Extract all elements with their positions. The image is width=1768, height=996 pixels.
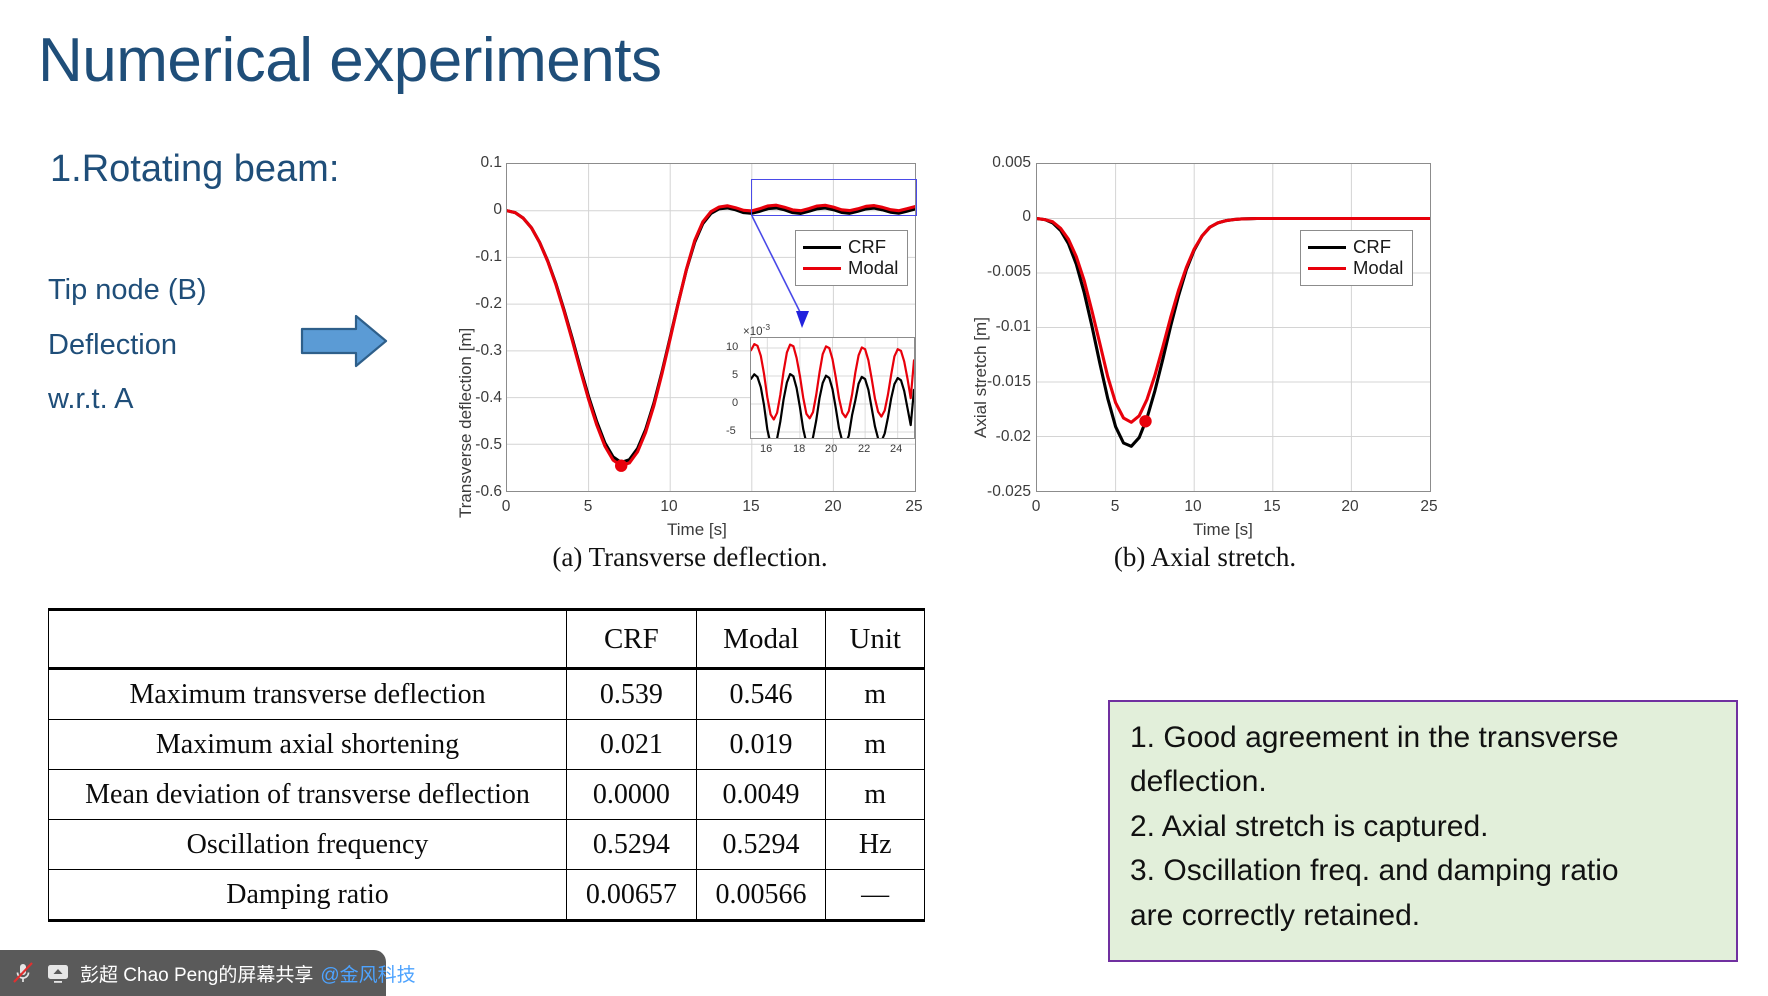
inset-xtick-3: 22 — [858, 443, 870, 455]
section-subtitle: 1.Rotating beam: — [50, 148, 339, 191]
row-unit: m — [826, 770, 925, 820]
row-label: Maximum transverse deflection — [49, 669, 567, 720]
ytick-b-6: -0.025 — [965, 483, 1031, 501]
table-header-crf: CRF — [567, 610, 697, 669]
note-line-1: 1. Good agreement in the transverse — [1130, 716, 1716, 760]
xtick-a-0: 0 — [502, 498, 511, 516]
note-line-2: deflection. — [1130, 760, 1716, 804]
ytick-b-3: -0.01 — [965, 318, 1031, 336]
xtick-b-5: 25 — [1420, 498, 1437, 516]
row-modal: 0.019 — [696, 720, 826, 770]
inset-xtick-2: 20 — [825, 443, 837, 455]
bullet-deflection: Deflection — [48, 329, 177, 362]
row-modal: 0.00566 — [696, 870, 826, 921]
zoom-region-box — [751, 179, 917, 216]
table-header-row: CRF Modal Unit — [49, 610, 925, 669]
legend-label-crf-b: CRF — [1353, 238, 1391, 257]
ytick-a-0: 0.1 — [458, 154, 502, 172]
inset-ytick-1: 5 — [732, 369, 738, 381]
inset-xtick-4: 24 — [890, 443, 902, 455]
ytick-b-0: 0.005 — [965, 154, 1031, 172]
ytick-a-5: -0.4 — [458, 389, 502, 407]
ytick-b-1: 0 — [965, 208, 1031, 226]
row-unit: m — [826, 720, 925, 770]
row-label: Maximum axial shortening — [49, 720, 567, 770]
marker-max-axial-stretch — [1139, 415, 1151, 427]
share-owner-name: 彭超 Chao Peng的屏幕共享 — [80, 960, 313, 987]
ytick-b-2: -0.005 — [965, 263, 1031, 281]
row-modal: 0.5294 — [696, 820, 826, 870]
screen-share-bar[interactable]: 彭超 Chao Peng的屏幕共享 @金风科技 — [0, 950, 386, 996]
mic-muted-icon[interactable] — [10, 960, 36, 986]
bullet-tip-node: Tip node (B) — [48, 274, 207, 307]
row-crf: 0.0000 — [567, 770, 697, 820]
ytick-a-1: 0 — [458, 201, 502, 219]
page-title: Numerical experiments — [38, 28, 662, 93]
row-modal: 0.0049 — [696, 770, 826, 820]
figure-axial-stretch: Axial stretch [m] 0.005 0 -0.005 -0.01 -… — [955, 148, 1455, 548]
row-crf: 0.00657 — [567, 870, 697, 921]
legend-swatch-modal-b — [1308, 267, 1346, 270]
row-unit: m — [826, 669, 925, 720]
ytick-b-5: -0.02 — [965, 428, 1031, 446]
conclusions-callout: 1. Good agreement in the transverse defl… — [1108, 700, 1738, 962]
xtick-a-1: 5 — [584, 498, 593, 516]
legend-b: CRF Modal — [1300, 230, 1413, 286]
table-header-unit: Unit — [826, 610, 925, 669]
xtick-a-2: 10 — [660, 498, 677, 516]
xtick-b-1: 5 — [1111, 498, 1120, 516]
legend-item-modal: Modal — [803, 258, 898, 279]
ytick-a-7: -0.6 — [458, 483, 502, 501]
xtick-b-3: 15 — [1263, 498, 1280, 516]
inset-plot-area — [750, 337, 915, 439]
results-table: CRF Modal Unit Maximum transverse deflec… — [48, 608, 925, 922]
legend-label-modal-b: Modal — [1353, 259, 1403, 278]
figure-caption-a: (a) Transverse deflection. — [440, 542, 940, 573]
table-row: Damping ratio 0.00657 0.00566 — — [49, 870, 925, 921]
xtick-b-4: 20 — [1341, 498, 1358, 516]
inset-xtick-0: 16 — [760, 443, 772, 455]
plot-area-b — [1036, 163, 1431, 492]
share-owner-tag: @金风科技 — [320, 960, 415, 987]
row-label: Mean deviation of transverse deflection — [49, 770, 567, 820]
table-row: Oscillation frequency 0.5294 0.5294 Hz — [49, 820, 925, 870]
inset-plot-wrapper: ×10-3 10 5 0 -5 — [720, 323, 920, 468]
xtick-a-3: 15 — [742, 498, 759, 516]
table-row: Maximum transverse deflection 0.539 0.54… — [49, 669, 925, 720]
legend-item-crf: CRF — [803, 237, 898, 258]
figure-caption-b: (b) Axial stretch. — [955, 542, 1455, 573]
ytick-a-6: -0.5 — [458, 436, 502, 454]
ytick-b-4: -0.015 — [965, 373, 1031, 391]
figure-transverse-deflection: Transverse deflection [m] 0.1 0 -0.1 -0.… — [440, 148, 940, 548]
row-unit: — — [826, 870, 925, 921]
table-header-blank — [49, 610, 567, 669]
screen-share-icon[interactable] — [45, 960, 71, 986]
axis-label-x-a: Time [s] — [667, 520, 727, 540]
legend-swatch-crf-b — [1308, 246, 1346, 249]
bullet-wrt-a: w.r.t. A — [48, 383, 133, 416]
ytick-a-3: -0.2 — [458, 295, 502, 313]
row-label: Damping ratio — [49, 870, 567, 921]
inset-exponent-label: ×10-3 — [743, 322, 770, 338]
xtick-b-2: 10 — [1184, 498, 1201, 516]
note-line-4: 3. Oscillation freq. and damping ratio — [1130, 849, 1716, 893]
xtick-b-0: 0 — [1032, 498, 1041, 516]
axis-label-x-b: Time [s] — [1193, 520, 1253, 540]
row-label: Oscillation frequency — [49, 820, 567, 870]
slide-canvas: Numerical experiments 1.Rotating beam: T… — [0, 0, 1768, 996]
row-unit: Hz — [826, 820, 925, 870]
table-row: Mean deviation of transverse deflection … — [49, 770, 925, 820]
row-modal: 0.546 — [696, 669, 826, 720]
legend-label-crf: CRF — [848, 238, 886, 257]
legend-item-crf-b: CRF — [1308, 237, 1403, 258]
inset-ytick-3: -5 — [726, 425, 736, 437]
legend-label-modal: Modal — [848, 259, 898, 278]
row-crf: 0.539 — [567, 669, 697, 720]
inset-ytick-2: 0 — [732, 397, 738, 409]
ytick-a-2: -0.1 — [458, 248, 502, 266]
table-header-modal: Modal — [696, 610, 826, 669]
legend-item-modal-b: Modal — [1308, 258, 1403, 279]
legend-a: CRF Modal — [795, 230, 908, 286]
note-line-5: are correctly retained. — [1130, 894, 1716, 938]
right-arrow-icon — [300, 313, 388, 369]
xtick-a-5: 25 — [905, 498, 922, 516]
note-line-3: 2. Axial stretch is captured. — [1130, 805, 1716, 849]
row-crf: 0.021 — [567, 720, 697, 770]
ytick-a-4: -0.3 — [458, 342, 502, 360]
inset-xtick-1: 18 — [793, 443, 805, 455]
inset-ytick-0: 10 — [726, 341, 738, 353]
table-row: Maximum axial shortening 0.021 0.019 m — [49, 720, 925, 770]
legend-swatch-crf — [803, 246, 841, 249]
xtick-a-4: 20 — [824, 498, 841, 516]
legend-swatch-modal — [803, 267, 841, 270]
marker-max-deflection — [615, 460, 627, 472]
row-crf: 0.5294 — [567, 820, 697, 870]
